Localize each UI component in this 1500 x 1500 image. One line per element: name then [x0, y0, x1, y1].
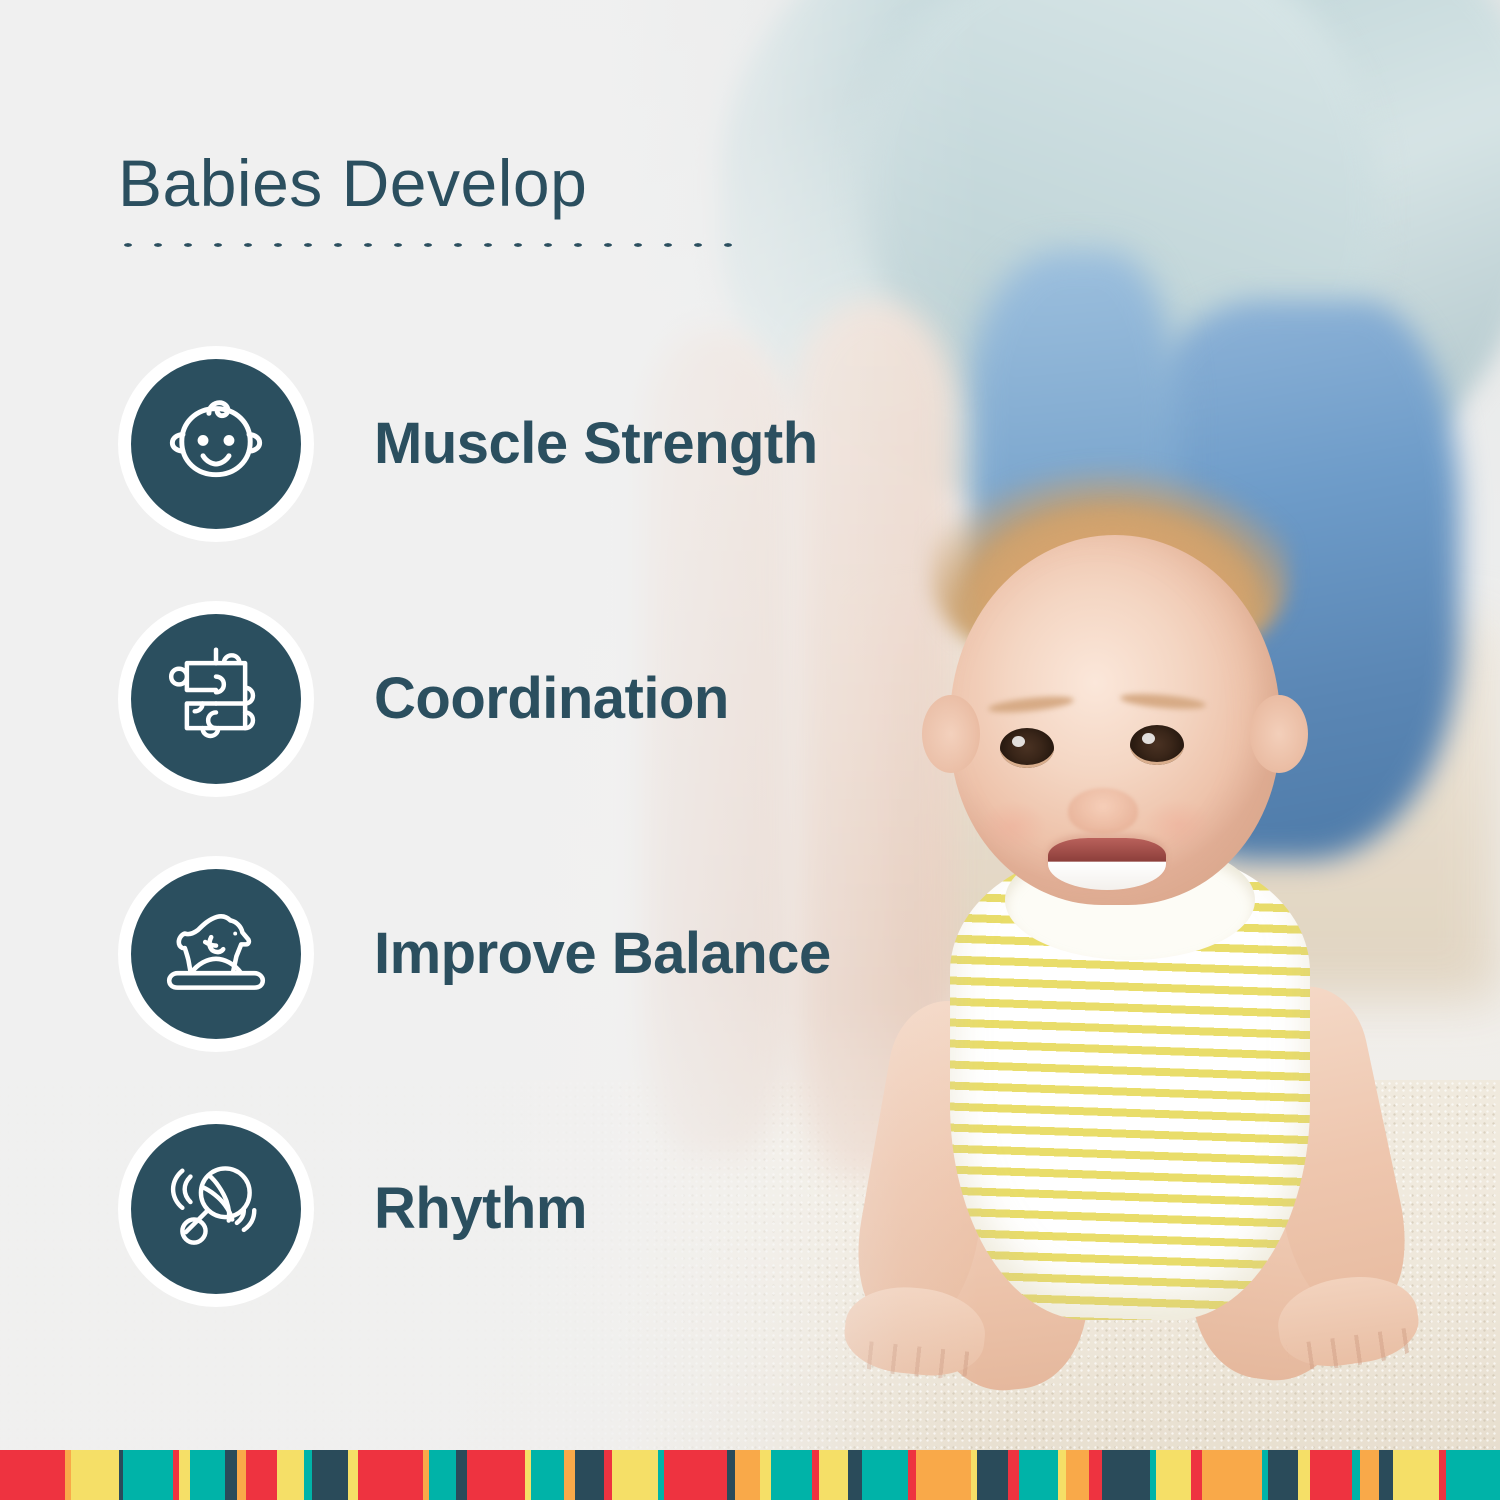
benefit-icon-badge [118, 346, 314, 542]
list-item: Muscle Strength [0, 316, 1000, 571]
stripe-segment [1379, 1450, 1394, 1500]
stripe-segment [179, 1450, 189, 1500]
rocking-horse-icon [156, 894, 276, 1014]
poster-content: Babies Develop [0, 0, 1500, 1450]
stripe-segment [456, 1450, 466, 1500]
baby-face-icon [157, 385, 275, 503]
benefit-label: Muscle Strength [374, 410, 818, 477]
stripe-segment [123, 1450, 173, 1500]
stripe-segment [735, 1450, 760, 1500]
stripe-segment [429, 1450, 456, 1500]
page-title: Babies Develop [118, 145, 587, 221]
dotted-divider [113, 238, 743, 252]
stripe-segment [916, 1450, 970, 1500]
stripe-segment [1202, 1450, 1262, 1500]
stripe-segment [1191, 1450, 1201, 1500]
stripe-segment [531, 1450, 564, 1500]
stripe-segment [760, 1450, 770, 1500]
stripe-segment [1058, 1450, 1066, 1500]
list-item: Improve Balance [0, 826, 1000, 1081]
benefits-list: Muscle Strength [0, 316, 1000, 1336]
stripe-segment [71, 1450, 119, 1500]
stripe-segment [1019, 1450, 1059, 1500]
stripe-segment [819, 1450, 848, 1500]
stripe-segment [1102, 1450, 1150, 1500]
puzzle-icon [160, 643, 272, 755]
list-item: Rhythm [0, 1081, 1000, 1336]
rattle-icon [158, 1151, 274, 1267]
stripe-segment [312, 1450, 347, 1500]
stripe-segment [190, 1450, 225, 1500]
stripe-segment [1008, 1450, 1018, 1500]
benefit-label: Improve Balance [374, 920, 831, 987]
stripe-segment [304, 1450, 312, 1500]
stripe-segment [237, 1450, 245, 1500]
stripe-segment [1066, 1450, 1089, 1500]
stripe-segment [1310, 1450, 1352, 1500]
benefit-label: Rhythm [374, 1175, 587, 1242]
stripe-segment [848, 1450, 863, 1500]
stripe-segment [277, 1450, 304, 1500]
stripe-segment [467, 1450, 525, 1500]
stripe-segment [1360, 1450, 1379, 1500]
benefit-icon-badge [118, 1111, 314, 1307]
stripe-segment [727, 1450, 735, 1500]
stripe-segment [771, 1450, 813, 1500]
stripe-segment [0, 1450, 65, 1500]
stripe-segment [908, 1450, 916, 1500]
stripe-segment [1298, 1450, 1311, 1500]
stripe-segment [1156, 1450, 1191, 1500]
stripe-segment [564, 1450, 574, 1500]
stripe-segment [348, 1450, 358, 1500]
stripe-segment [977, 1450, 1008, 1500]
stripe-segment [1446, 1450, 1500, 1500]
stripe-segment [225, 1450, 238, 1500]
stripe-segment [604, 1450, 612, 1500]
stripe-segment [862, 1450, 908, 1500]
stripe-segment [1268, 1450, 1297, 1500]
benefit-label: Coordination [374, 665, 729, 732]
stripe-segment [1393, 1450, 1439, 1500]
stripe-segment [664, 1450, 727, 1500]
list-item: Coordination [0, 571, 1000, 826]
stripe-segment [246, 1450, 277, 1500]
stripe-segment [358, 1450, 423, 1500]
stripe-segment [1352, 1450, 1360, 1500]
stripe-segment [575, 1450, 604, 1500]
bottom-stripe-bar [0, 1450, 1500, 1500]
stripe-segment [612, 1450, 658, 1500]
stripe-segment [1089, 1450, 1102, 1500]
benefit-icon-badge [118, 856, 314, 1052]
benefit-icon-badge [118, 601, 314, 797]
infographic-poster: Babies Develop [0, 0, 1500, 1500]
